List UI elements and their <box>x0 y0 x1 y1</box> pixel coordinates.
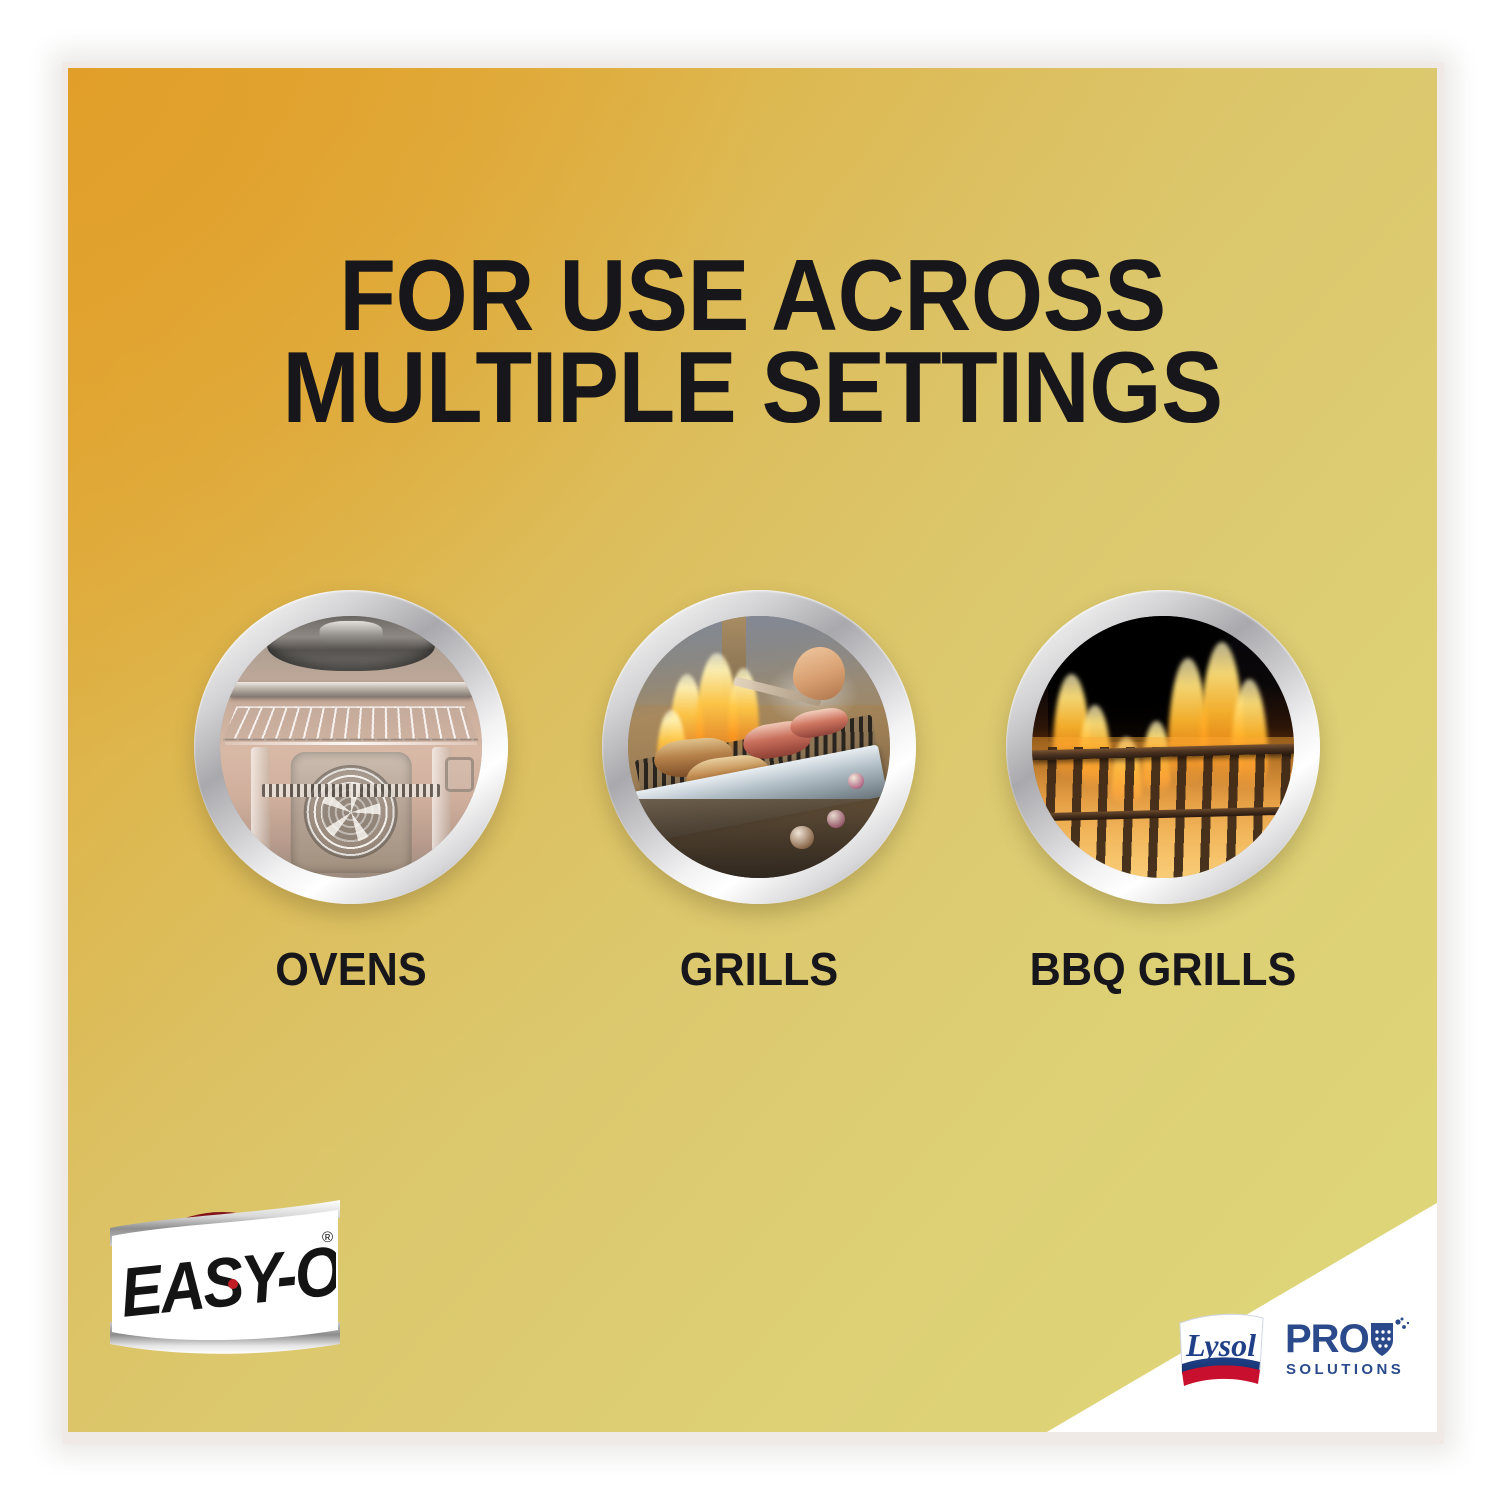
oven-wire-rack <box>223 707 479 741</box>
infographic-canvas: FOR USE ACROSS MULTIPLE SETTINGS <box>0 0 1500 1500</box>
grill-control-knob <box>848 773 864 789</box>
badge-label-bbq-grills: BBQ GRILLS <box>1012 942 1315 996</box>
grill-control-knob <box>790 826 814 850</box>
badge-ovens[interactable]: OVENS <box>190 590 512 996</box>
oven-left-wall-highlight <box>251 747 269 852</box>
lysol-wordmark: Lysol <box>1185 1327 1256 1363</box>
lysol-logo: Lysol <box>1173 1306 1269 1392</box>
oven-vent-slots <box>262 784 440 797</box>
badge-grills[interactable]: GRILLS <box>598 590 920 996</box>
solutions-wordmark: SOLUTIONS <box>1286 1361 1404 1378</box>
chrome-ring-ovens <box>194 590 508 904</box>
badge-label-ovens: OVENS <box>200 942 503 996</box>
pro-sparkle-icon <box>1395 1318 1409 1329</box>
pro-wordmark: PRO <box>1285 1317 1369 1361</box>
grill-badge-icon <box>628 616 890 878</box>
badge-bbq-grills[interactable]: BBQ GRILLS <box>1002 590 1324 996</box>
easy-off-logo-svg: EASY-OFF ® <box>100 1196 350 1364</box>
oven-door-handle <box>445 757 475 792</box>
content-panel: FOR USE ACROSS MULTIPLE SETTINGS <box>68 68 1437 1432</box>
cook-hand <box>793 647 845 699</box>
chrome-ring-grills <box>602 590 916 904</box>
bbq-grill-badge-icon <box>1032 616 1294 878</box>
pro-solutions-logo: PRO SO <box>1285 1316 1413 1382</box>
oven-burner-cap <box>320 621 383 645</box>
easy-off-logo: EASY-OFF ® <box>100 1196 350 1364</box>
settings-badge-row: OVENS <box>68 590 1437 1010</box>
headline-line-1: FOR USE ACROSS <box>123 250 1382 342</box>
oven-interior-photo <box>220 616 482 878</box>
oven-shelf-divider <box>225 742 477 745</box>
oven-fan-housing <box>291 752 412 873</box>
brand-lockup: Lysol PRO <box>1173 1306 1413 1392</box>
badge-label-grills: GRILLS <box>608 942 911 996</box>
bbq-flames-grate-photo <box>1032 616 1294 878</box>
easy-off-registered-mark: ® <box>322 1229 333 1246</box>
oven-shelf <box>230 682 471 698</box>
chrome-ring-bbq-grills <box>1006 590 1320 904</box>
grill-base <box>628 799 890 878</box>
page-title: FOR USE ACROSS MULTIPLE SETTINGS <box>123 250 1382 434</box>
commercial-grill-photo <box>628 616 890 878</box>
oven-convection-fan <box>304 765 398 859</box>
headline-line-2: MULTIPLE SETTINGS <box>123 342 1382 434</box>
oven-badge-icon <box>220 616 482 878</box>
easy-off-dot-separator <box>228 1279 238 1289</box>
